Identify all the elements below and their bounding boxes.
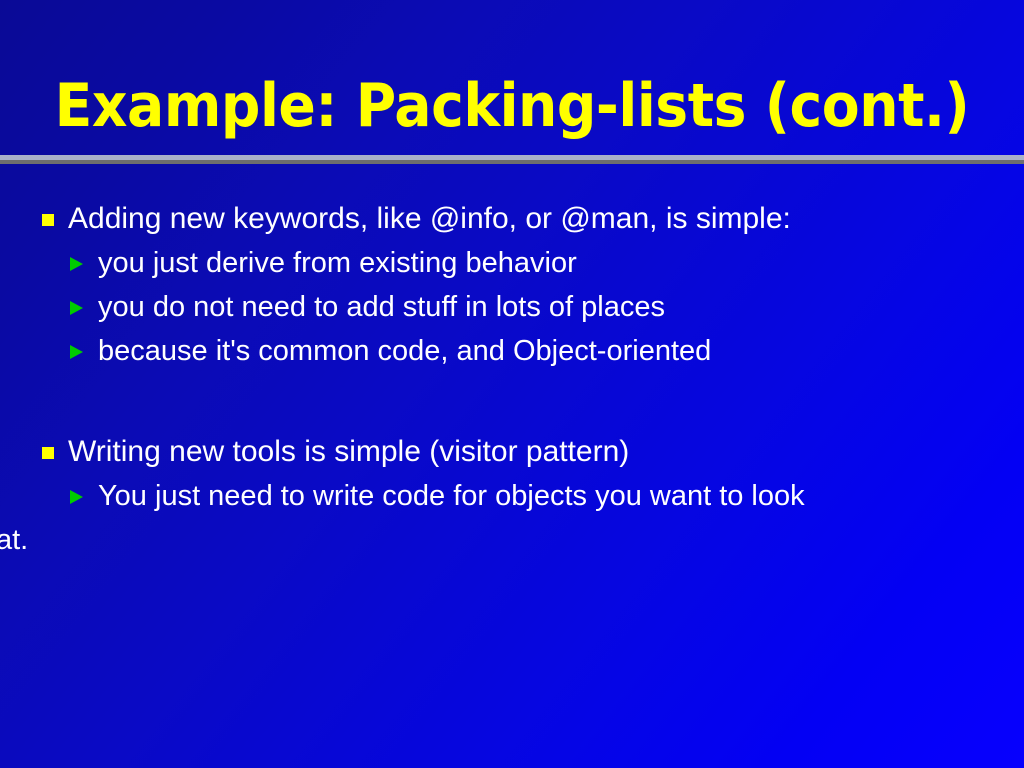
title-divider [0,155,1024,164]
bullet-level2-wrapped-tail: at. [0,518,1024,562]
bullet-level2: You just need to write code for objects … [0,474,1024,518]
square-bullet-icon [42,214,54,226]
divider-shadow [0,160,1024,164]
page-title: Example: Packing-lists (cont.) [41,72,983,140]
triangle-bullet-icon [70,490,83,504]
bullet-level1: Writing new tools is simple (visitor pat… [0,429,1024,474]
triangle-bullet-icon [70,301,83,315]
bullet-level1: Adding new keywords, like @info, or @man… [0,196,1024,241]
bullet-level2-label: you do not need to add stuff in lots of … [98,291,665,323]
bullet-level1-label: Adding new keywords, like @info, or @man… [68,202,791,235]
bullet-level2-label: You just need to write code for objects … [98,480,805,512]
bullet-level2: you just derive from existing behavior [0,241,1024,285]
bullet-level1-label: Writing new tools is simple (visitor pat… [68,435,629,468]
triangle-bullet-icon [70,345,83,359]
slide-body: Adding new keywords, like @info, or @man… [0,196,1024,562]
slide: Example: Packing-lists (cont.) Adding ne… [0,0,1024,768]
slide-title-block: Example: Packing-lists (cont.) [0,72,1024,140]
bullet-group-spacer [0,373,1024,429]
bullet-level2-label: you just derive from existing behavior [98,247,577,279]
square-bullet-icon [42,447,54,459]
bullet-level2-label: because it's common code, and Object-ori… [98,335,711,367]
bullet-level2: you do not need to add stuff in lots of … [0,285,1024,329]
triangle-bullet-icon [70,257,83,271]
bullet-level2: because it's common code, and Object-ori… [0,329,1024,373]
